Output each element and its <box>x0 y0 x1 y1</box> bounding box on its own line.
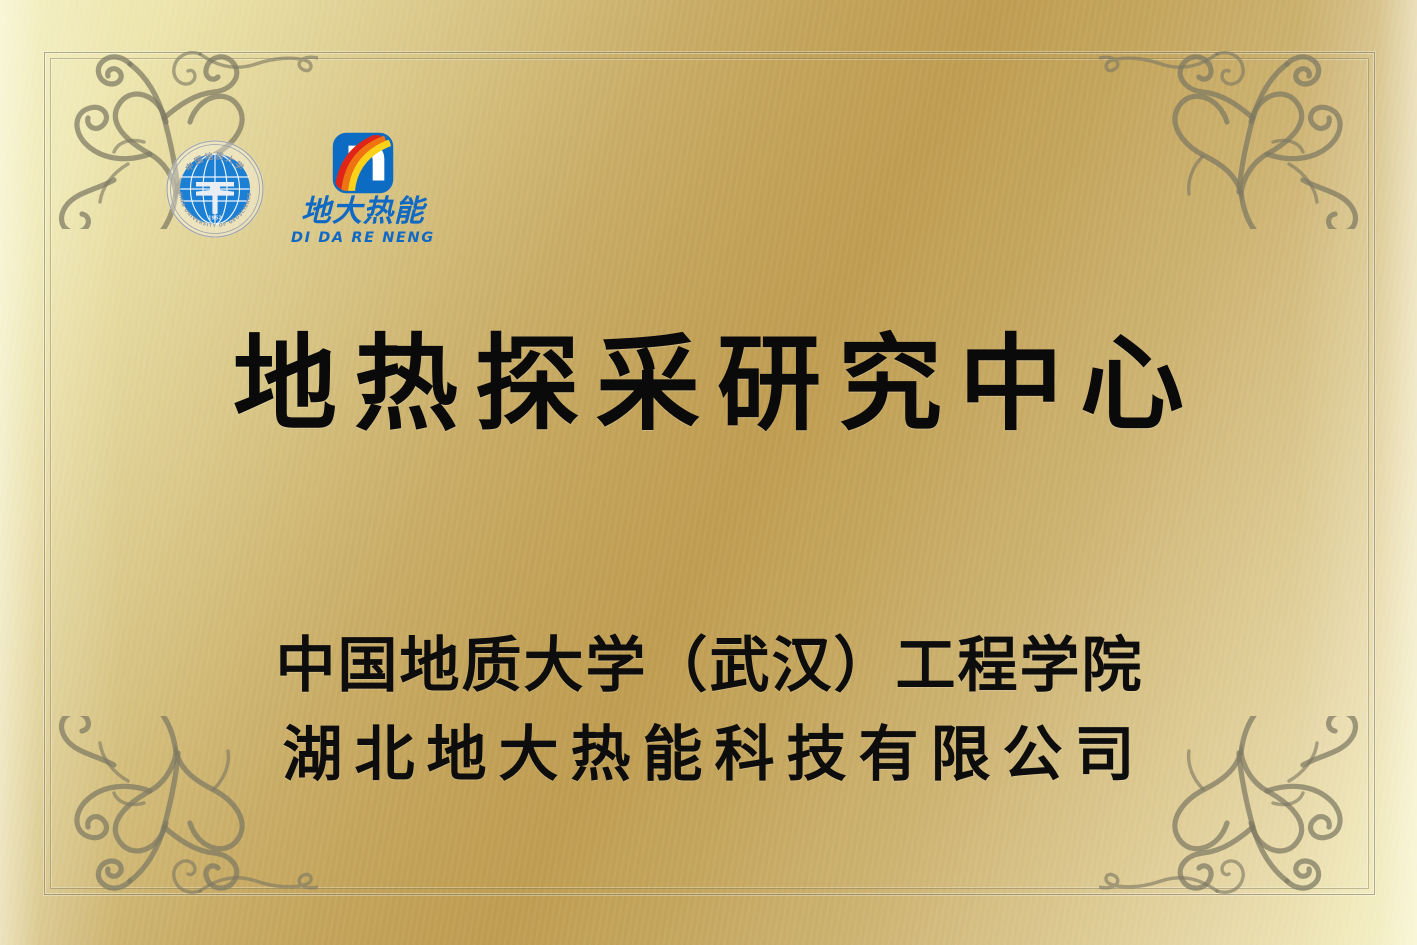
logo-row: 中国地质大学 CHINA UNIVERSITY OF GEOSCIENCES 1… <box>165 132 435 246</box>
subtitle-line-1: 中国地质大学（武汉）工程学院 <box>0 622 1417 711</box>
brand-name-en: DI DA RE NENG <box>291 231 435 246</box>
award-plaque: 中国地质大学 CHINA UNIVERSITY OF GEOSCIENCES 1… <box>0 0 1417 945</box>
subtitle-line-2: 湖北地大热能科技有限公司 <box>0 711 1417 800</box>
brand-name-cn: 地大热能 <box>301 197 425 227</box>
flourish-heart-scroll-icon <box>1099 53 1355 229</box>
plaque-subtitle: 中国地质大学（武汉）工程学院 湖北地大热能科技有限公司 <box>0 622 1417 800</box>
plaque-title: 地热探采研究中心 <box>0 326 1417 442</box>
didareneng-brand: 地大热能 DI DA RE NENG <box>291 132 435 246</box>
didareneng-logo-icon <box>332 132 394 194</box>
corner-flourish-top-right <box>1099 14 1399 229</box>
seal-year: 1952 <box>208 215 222 221</box>
university-seal-icon: 中国地质大学 CHINA UNIVERSITY OF GEOSCIENCES 1… <box>165 139 265 239</box>
